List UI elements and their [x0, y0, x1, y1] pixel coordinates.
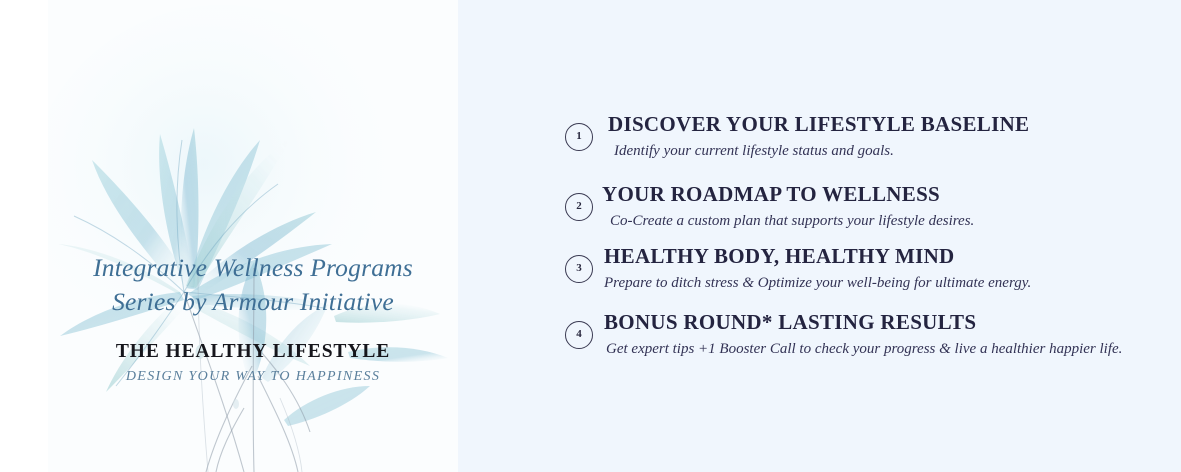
- lifestyle-heading: THE HEALTHY LIFESTYLE: [48, 341, 458, 363]
- step-description-4: Get expert tips +1 Booster Call to check…: [606, 341, 1122, 358]
- panel-text-block: Integrative Wellness Programs Series by …: [48, 0, 458, 472]
- step-description-2: Co-Create a custom plan that supports yo…: [610, 213, 974, 230]
- wellness-program-slide: Integrative Wellness Programs Series by …: [0, 0, 1181, 472]
- step-heading-3: HEALTHY BODY, HEALTHY MIND: [604, 244, 955, 269]
- floral-image-panel: Integrative Wellness Programs Series by …: [48, 0, 458, 472]
- step-heading-4: BONUS ROUND* LASTING RESULTS: [604, 310, 976, 335]
- step-number-badge-3: 3: [565, 255, 593, 283]
- left-white-gutter: [0, 0, 48, 472]
- step-description-3: Prepare to ditch stress & Optimize your …: [604, 275, 1031, 292]
- steps-panel: 1 DISCOVER YOUR LIFESTYLE BASELINE Ident…: [458, 0, 1181, 472]
- step-heading-1: DISCOVER YOUR LIFESTYLE BASELINE: [608, 112, 1029, 137]
- step-description-1: Identify your current lifestyle status a…: [614, 143, 894, 160]
- step-heading-2: YOUR ROADMAP TO WELLNESS: [602, 182, 940, 207]
- program-title: Integrative Wellness Programs Series by …: [48, 251, 458, 319]
- step-number-badge-1: 1: [565, 123, 593, 151]
- program-title-line1: Integrative Wellness Programs: [93, 253, 413, 282]
- step-number-badge-2: 2: [565, 193, 593, 221]
- step-number-badge-4: 4: [565, 321, 593, 349]
- program-title-line2: Series by Armour Initiative: [48, 285, 458, 319]
- lifestyle-tagline: DESIGN YOUR WAY TO HAPPINESS: [48, 369, 458, 385]
